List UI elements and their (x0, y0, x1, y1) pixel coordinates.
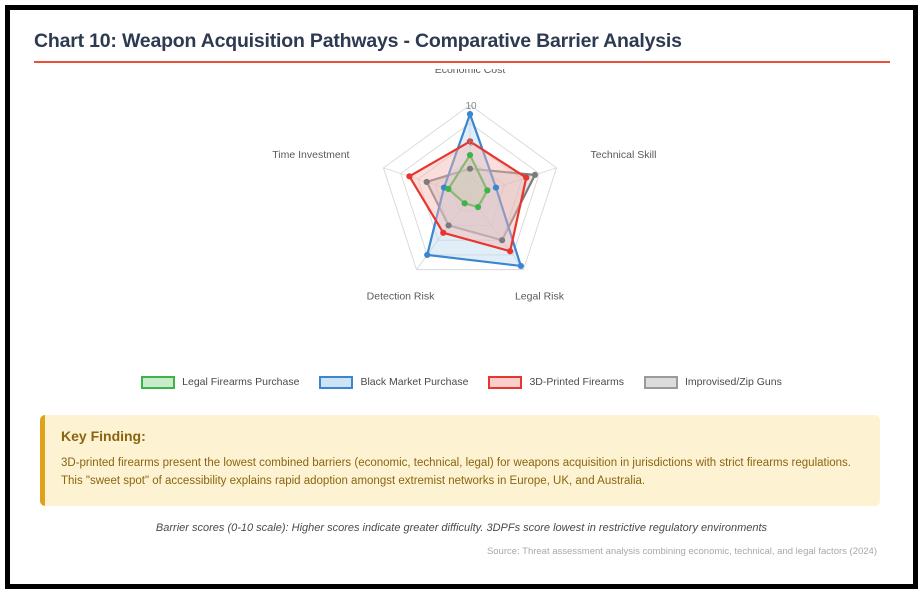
radar-data-point (467, 152, 473, 158)
legend-label: Black Market Purchase (360, 376, 468, 388)
radar-axis-label-legal-risk: Legal Risk (515, 291, 565, 303)
radar-axis-label-time-investment: Time Investment (272, 149, 349, 161)
radar-axis-label-technical-skill: Technical Skill (591, 149, 657, 161)
key-finding-heading: Key Finding: (61, 428, 862, 444)
legend-item[interactable]: 3D-Printed Firearms (488, 376, 624, 389)
radar-chart-area: 610 Economic CostTechnical SkillLegal Ri… (32, 69, 892, 369)
radar-data-point (475, 204, 481, 210)
legend-swatch (141, 376, 175, 389)
radar-data-point (532, 172, 538, 178)
legend-label: Legal Firearms Purchase (182, 376, 299, 388)
radar-chart-svg: 610 Economic CostTechnical SkillLegal Ri… (32, 69, 892, 369)
legend-swatch (644, 376, 678, 389)
radar-data-point (462, 200, 468, 206)
page-frame: Chart 10: Weapon Acquisition Pathways - … (5, 5, 918, 589)
page-root: Chart 10: Weapon Acquisition Pathways - … (0, 0, 923, 594)
legend-swatch (488, 376, 522, 389)
radar-data-point (406, 173, 412, 179)
radar-data-point (446, 222, 452, 228)
legend-item[interactable]: Black Market Purchase (319, 376, 468, 389)
radar-data-point (424, 179, 430, 185)
key-finding-body: 3D-printed firearms present the lowest c… (61, 455, 862, 491)
radar-data-point (467, 166, 473, 172)
radar-tick-label: 10 (465, 101, 477, 112)
radar-data-point (499, 237, 505, 243)
radar-data-point (445, 186, 451, 192)
radar-data-point (424, 252, 430, 258)
legend-label: Improvised/Zip Guns (685, 376, 782, 388)
chart-card: Chart 10: Weapon Acquisition Pathways - … (10, 10, 913, 584)
page-title: Chart 10: Weapon Acquisition Pathways - … (34, 30, 891, 53)
chart-legend: Legal Firearms PurchaseBlack Market Purc… (32, 371, 891, 393)
radar-data-point (484, 187, 490, 193)
radar-axis-label-economic-cost: Economic Cost (435, 69, 506, 76)
chart-footnote: Barrier scores (0-10 scale): Higher scor… (32, 522, 891, 534)
title-block: Chart 10: Weapon Acquisition Pathways - … (32, 28, 891, 63)
key-finding-callout: Key Finding: 3D-printed firearms present… (40, 415, 880, 506)
legend-item[interactable]: Legal Firearms Purchase (141, 376, 299, 389)
chart-source: Source: Threat assessment analysis combi… (32, 546, 891, 557)
radar-data-point (440, 230, 446, 236)
legend-item[interactable]: Improvised/Zip Guns (644, 376, 782, 389)
radar-data-point (507, 248, 513, 254)
title-underline-rule (34, 61, 890, 63)
radar-data-point (523, 175, 529, 181)
radar-series-polygon (409, 141, 526, 251)
legend-label: 3D-Printed Firearms (529, 376, 624, 388)
legend-swatch (319, 376, 353, 389)
radar-data-point (493, 184, 499, 190)
radar-data-point (518, 263, 524, 269)
radar-axis-label-detection-risk: Detection Risk (367, 291, 435, 303)
radar-tick-label: 6 (468, 137, 474, 148)
